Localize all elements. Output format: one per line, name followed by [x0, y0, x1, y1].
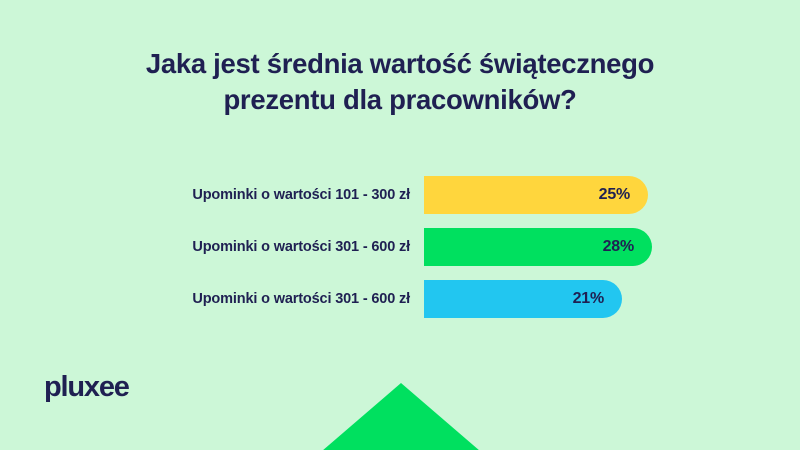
bar-row: Upominki o wartości 301 - 600 zł 28%: [0, 228, 800, 266]
bar-fill-green: 28%: [424, 228, 652, 266]
bar-fill-yellow: 25%: [424, 176, 648, 214]
bar-label: Upominki o wartości 301 - 600 zł: [40, 280, 410, 318]
bar-row: Upominki o wartości 101 - 300 zł 25%: [0, 176, 800, 214]
title-line-1: Jaka jest średnia wartość świątecznego: [0, 46, 800, 82]
triangle-up-icon: [322, 383, 480, 450]
bar-row: Upominki o wartości 301 - 600 zł 21%: [0, 280, 800, 318]
bar-track: 28%: [424, 228, 724, 266]
page-title: Jaka jest średnia wartość świątecznego p…: [0, 46, 800, 118]
bar-fill-blue: 21%: [424, 280, 622, 318]
bar-value: 28%: [603, 239, 634, 255]
bar-track: 21%: [424, 280, 724, 318]
bar-chart: Upominki o wartości 101 - 300 zł 25% Upo…: [0, 176, 800, 332]
pluxee-logo: pluxee: [44, 373, 129, 402]
bar-value: 25%: [599, 187, 630, 203]
infographic-canvas: Jaka jest średnia wartość świątecznego p…: [0, 0, 800, 450]
title-line-2: prezentu dla pracowników?: [0, 82, 800, 118]
bar-label: Upominki o wartości 301 - 600 zł: [40, 228, 410, 266]
bar-label: Upominki o wartości 101 - 300 zł: [40, 176, 410, 214]
triangle-up-shape: [322, 383, 480, 450]
bar-track: 25%: [424, 176, 724, 214]
bar-value: 21%: [573, 291, 604, 307]
